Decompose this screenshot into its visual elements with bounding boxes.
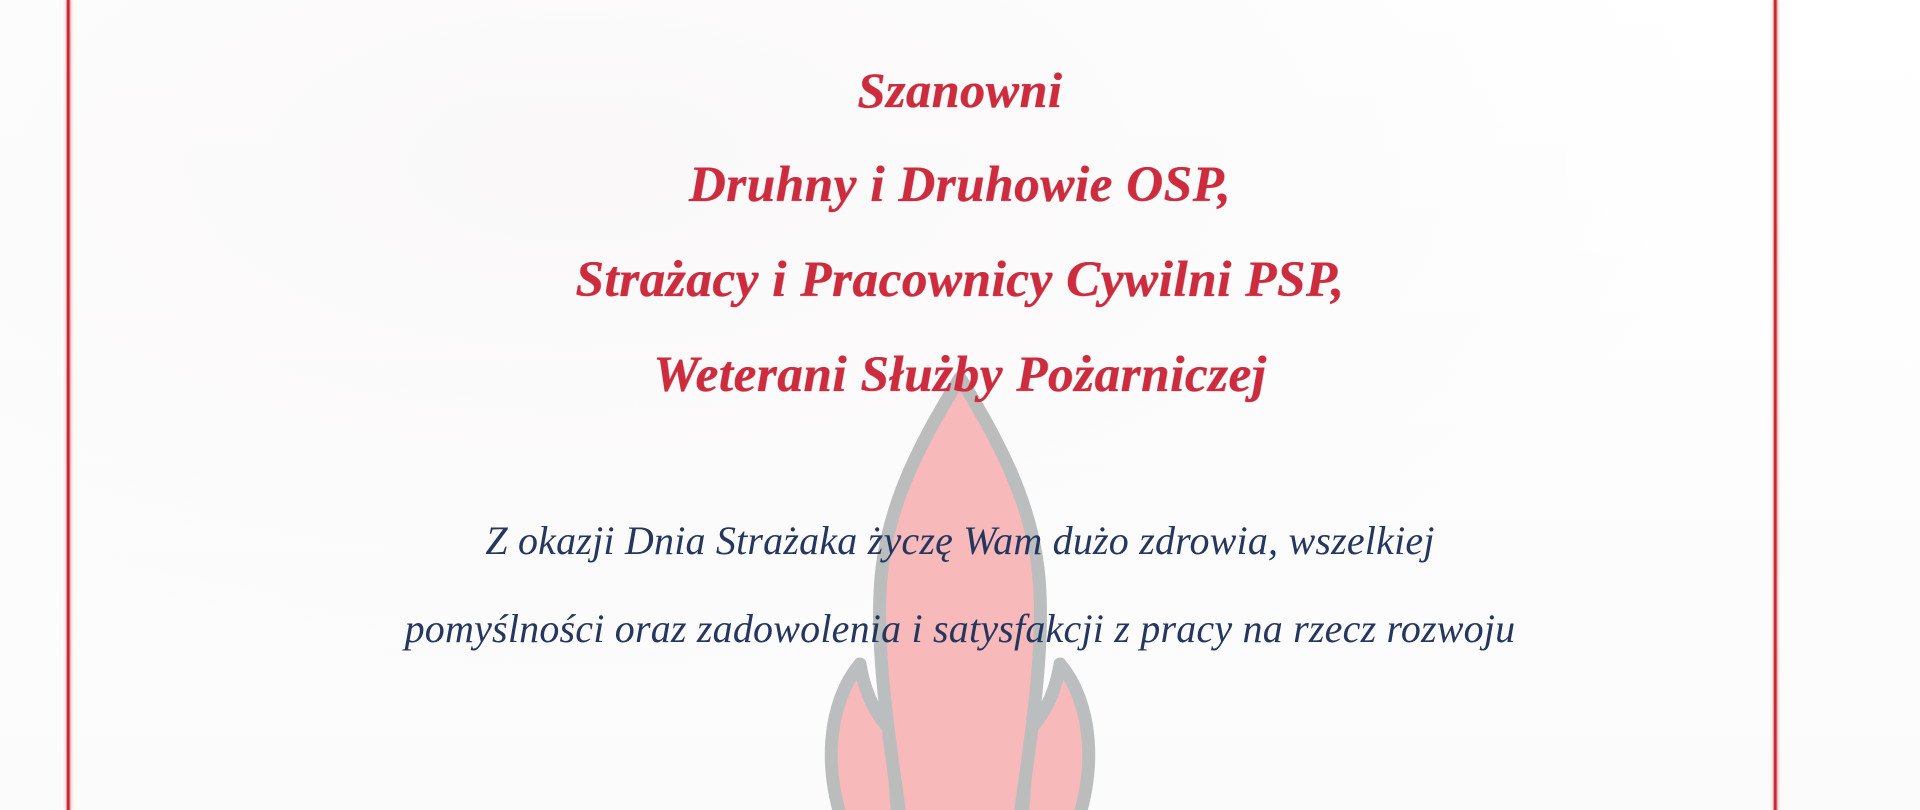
salutation-line-4: Weterani Służby Pożarniczej [0,328,1920,423]
wishes-paragraph: Z okazji Dnia Strażaka życzę Wam dużo zd… [186,497,1734,673]
card-content: Szanowni Druhny i Druhowie OSP, Strażacy… [0,0,1920,810]
salutation-block: Szanowni Druhny i Druhowie OSP, Strażacy… [0,42,1920,423]
salutation-line-1: Szanowni [0,42,1920,138]
wishes-line-1: Z okazji Dnia Strażaka życzę Wam dużo zd… [186,497,1734,585]
salutation-line-2: Druhny i Druhowie OSP, [0,138,1920,233]
salutation-line-3: Strażacy i Pracownicy Cywilni PSP, [0,233,1920,328]
wishes-line-2: pomyślności oraz zadowolenia i satysfakc… [186,585,1734,673]
scanned-card-page: Szanowni Druhny i Druhowie OSP, Strażacy… [0,0,1920,810]
